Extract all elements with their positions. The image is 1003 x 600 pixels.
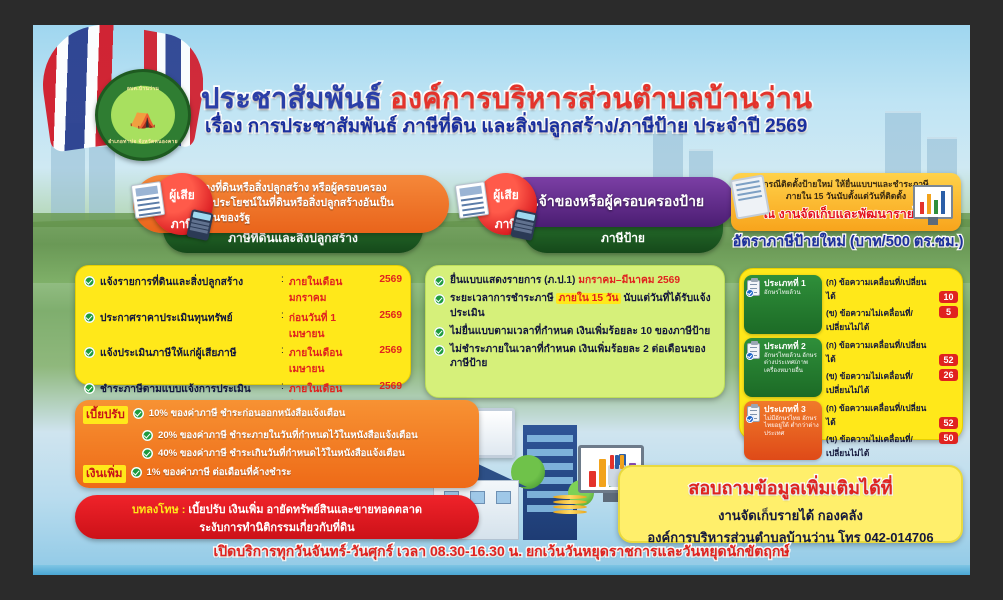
clipboard-icon xyxy=(747,343,760,359)
sign-rule-text: ยื่นแบบแสดงรายการ (ภ.ป.1) มกราคม–มีนาคม … xyxy=(450,274,680,288)
sign-taxpayer-desc: เจ้าของหรือผู้ครอบครองป้าย xyxy=(534,191,704,213)
sign-rate-values: 5250 xyxy=(939,401,958,460)
sign-rule-highlight: มกราคม–มีนาคม 2569 xyxy=(578,275,680,286)
land-schedule-separator: : xyxy=(281,310,284,321)
sign-rule-text: ระยะเวลาการชำระภาษี ภายใน 15 วัน นับแต่ว… xyxy=(450,292,716,321)
land-schedule-label: แจ้งรายการที่ดินและสิ่งปลูกสร้าง xyxy=(100,274,276,290)
sign-rule-row: ระยะเวลาการชำระภาษี ภายใน 15 วัน นับแต่ว… xyxy=(434,292,716,321)
clipboard-icon xyxy=(747,406,760,422)
service-hours-footer: เปิดบริการทุกวันจันทร์-วันศุกร์ เวลา 08.… xyxy=(33,541,970,563)
sign-taxpayer-banner: เจ้าของหรือผู้ครอบครองป้าย xyxy=(503,177,735,227)
clipboard-icon xyxy=(747,280,760,296)
monitor-stand xyxy=(603,493,619,502)
sign-rule-text: ไม่ยื่นแบบตามเวลาที่กำหนด เงินเพิ่มร้อยล… xyxy=(450,325,710,339)
land-schedule-value: ก่อนวันที่ 1 เมษายน xyxy=(289,310,374,342)
penalty-row: 40% ของค่าภาษี ชำระเกินวันที่กำหนดไว้ในห… xyxy=(83,446,471,461)
penalty-surcharge-tag: เงินเพิ่ม xyxy=(83,465,126,483)
penalty-panel: เบี้ยปรับ10% ของค่าภาษี ชำระก่อนออกหนังส… xyxy=(75,400,479,488)
sign-rate-item-label: (ข) ข้อความไม่เคลื่อนที่/เปลี่ยนไม่ได้ xyxy=(826,306,935,334)
sign-rate-category: ประเภทที่ 1อักษรไทยล้วน xyxy=(744,275,822,334)
penalty-text: 10% ของค่าภาษี ชำระก่อนออกหนังสือแจ้งเตื… xyxy=(149,406,346,421)
land-schedule-value: ภายในเดือน มกราคม xyxy=(289,274,374,306)
check-icon xyxy=(131,467,142,478)
sign-rate-category-row: ประเภทที่ 2อักษรไทยล้วน อักษรต่างประเทศ/… xyxy=(744,338,958,397)
sign-rate-badge: 5 xyxy=(939,306,958,318)
check-icon xyxy=(84,276,95,287)
land-schedule-row: ประกาศราคาประเมินทุนทรัพย์:ก่อนวันที่ 1 … xyxy=(84,310,402,342)
document-icon xyxy=(455,181,489,219)
sign-rate-category-title: ประเภทที่ 1 xyxy=(764,279,819,289)
sign-rates-rows: ประเภทที่ 1อักษรไทยล้วน(ก) ข้อความเคลื่อ… xyxy=(744,275,958,460)
penalty-row: 20% ของค่าภาษี ชำระภายในวันที่กำหนดไว้ใน… xyxy=(83,428,471,443)
land-schedule-year: 2569 xyxy=(379,310,402,321)
sign-rate-category-title: ประเภทที่ 2 xyxy=(764,342,819,352)
penalty-rows: เบี้ยปรับ10% ของค่าภาษี ชำระก่อนออกหนังส… xyxy=(83,406,471,483)
sign-rate-category-row: ประเภทที่ 3ไม่มีอักษรไทย อักษรไทยอยู่ใต้… xyxy=(744,401,958,460)
land-schedule-separator: : xyxy=(281,274,284,285)
sign-rate-title: อัตราภาษีป้ายใหม่ (บาท/500 ตร.ซม.) xyxy=(723,230,970,253)
land-schedule-label: แจ้งประเมินภาษีให้แก่ผู้เสียภาษี xyxy=(100,345,276,361)
punishment-line2: ระงับการทำนิติกรรมเกี่ยวกับที่ดิน xyxy=(85,518,469,536)
sign-rate-item-label: (ก) ข้อความเคลื่อนที่/เปลี่ยนได้ xyxy=(826,338,935,366)
land-schedule-year: 2569 xyxy=(379,274,402,285)
sign-rate-category-subtitle: ไม่มีอักษรไทย อักษรไทยอยู่ใต้ ต่ำกว่าต่า… xyxy=(764,415,819,438)
penalty-row: เงินเพิ่ม1% ของค่าภาษี ต่อเดือนที่ค้างชำ… xyxy=(83,465,471,483)
contact-office: งานจัดเก็บรายได้ กองคลัง xyxy=(620,505,961,526)
sign-rate-category-subtitle: อักษรไทยล้วน อักษรต่างประเทศ/ภาพ เครื่อง… xyxy=(764,352,819,375)
sign-rate-item-label: (ก) ข้อความเคลื่อนที่/เปลี่ยนได้ xyxy=(826,275,935,303)
sign-rate-items: (ก) ข้อความเคลื่อนที่/เปลี่ยนได้(ข) ข้อค… xyxy=(826,275,935,334)
emblem-bottom-text: อำเภอท่าบ่อ จังหวัดหนองคาย xyxy=(98,138,188,146)
monitor-chart-icon xyxy=(913,185,953,219)
punishment-line1: บทลงโทษ :เบี้ยปรับ เงินเพิ่ม อายัดทรัพย์… xyxy=(85,500,469,518)
check-icon xyxy=(434,345,445,356)
contact-heading: สอบถามข้อมูลเพิ่มเติมได้ที่ xyxy=(620,473,961,502)
sign-rate-category-subtitle: อักษรไทยล้วน xyxy=(764,289,819,297)
sign-tax-band-label: ภาษีป้าย xyxy=(601,229,645,248)
penalty-text: 40% ของค่าภาษี ชำระเกินวันที่กำหนดไว้ในห… xyxy=(158,446,405,461)
sign-rate-badge: 26 xyxy=(939,369,958,381)
check-icon xyxy=(133,408,144,419)
check-icon xyxy=(84,347,95,358)
land-schedule-label: ชำระภาษีตามแบบแจ้งการประเมิน xyxy=(100,381,276,397)
footer-strip xyxy=(33,565,970,575)
punishment-bar: บทลงโทษ :เบี้ยปรับ เงินเพิ่ม อายัดทรัพย์… xyxy=(75,495,479,539)
land-schedule-year: 2569 xyxy=(379,345,402,356)
punishment-tag: บทลงโทษ : xyxy=(132,504,185,516)
page-subtitle: เรื่อง การประชาสัมพันธ์ ภาษีที่ดิน และสิ… xyxy=(205,111,925,141)
sign-rate-badge: 52 xyxy=(939,354,958,366)
land-schedule-separator: : xyxy=(281,381,284,392)
sign-rates-panel: ประเภทที่ 1อักษรไทยล้วน(ก) ข้อความเคลื่อ… xyxy=(739,268,963,440)
poster-canvas: อบต.บ้านว่าน ⛺ อำเภอท่าบ่อ จังหวัดหนองคา… xyxy=(33,25,970,575)
land-schedule-row: แจ้งรายการที่ดินและสิ่งปลูกสร้าง:ภายในเด… xyxy=(84,274,402,306)
sign-rate-category-row: ประเภทที่ 1อักษรไทยล้วน(ก) ข้อความเคลื่อ… xyxy=(744,275,958,334)
sign-rate-badge: 50 xyxy=(939,432,958,444)
land-schedule-row: แจ้งประเมินภาษีให้แก่ผู้เสียภาษี:ภายในเด… xyxy=(84,345,402,377)
check-icon xyxy=(434,276,445,287)
sign-rate-item-label: (ข) ข้อความไม่เคลื่อนที่/เปลี่ยนไม่ได้ xyxy=(826,432,935,460)
sign-rate-badge: 10 xyxy=(939,291,958,303)
document-icon xyxy=(131,181,165,219)
coin-stack-icon xyxy=(553,495,587,511)
check-icon xyxy=(142,448,153,459)
sign-rate-items: (ก) ข้อความเคลื่อนที่/เปลี่ยนได้(ข) ข้อค… xyxy=(826,401,935,460)
check-icon xyxy=(84,383,95,394)
emblem-temple-icon: ⛺ xyxy=(98,106,188,128)
land-schedule-label: ประกาศราคาประเมินทุนทรัพย์ xyxy=(100,310,276,326)
land-taxpayer-desc-line1: เจ้าของที่ดินหรือสิ่งปลูกสร้าง หรือผู้คร… xyxy=(181,181,439,196)
sign-rate-category: ประเภทที่ 3ไม่มีอักษรไทย อักษรไทยอยู่ใต้… xyxy=(744,401,822,460)
land-schedule-value: ภายในเดือน เมษายน xyxy=(289,345,374,377)
check-icon xyxy=(434,327,445,338)
sign-rule-row: ไม่ชำระภายในเวลาที่กำหนด เงินเพิ่มร้อยละ… xyxy=(434,343,716,372)
sign-rate-items: (ก) ข้อความเคลื่อนที่/เปลี่ยนได้(ข) ข้อค… xyxy=(826,338,935,397)
sign-rate-values: 105 xyxy=(939,275,958,334)
sign-rate-values: 5226 xyxy=(939,338,958,397)
sign-rules-rows: ยื่นแบบแสดงรายการ (ภ.ป.1) มกราคม–มีนาคม … xyxy=(434,274,716,372)
land-tax-schedule-panel: แจ้งรายการที่ดินและสิ่งปลูกสร้าง:ภายในเด… xyxy=(75,265,411,385)
sign-rule-highlight: ภายใน 15 วัน xyxy=(556,293,620,304)
poster-header: อบต.บ้านว่าน ⛺ อำเภอท่าบ่อ จังหวัดหนองคา… xyxy=(33,25,970,145)
check-icon xyxy=(142,430,153,441)
sign-rate-item-label: (ข) ข้อความไม่เคลื่อนที่/เปลี่ยนไม่ได้ xyxy=(826,369,935,397)
sign-rate-item-label: (ก) ข้อความเคลื่อนที่/เปลี่ยนได้ xyxy=(826,401,935,429)
punishment-text1: เบี้ยปรับ เงินเพิ่ม อายัดทรัพย์สินและขาย… xyxy=(188,504,422,516)
land-schedule-year: 2569 xyxy=(379,381,402,392)
land-taxpayer-desc-line2: หรือทำประโยชน์ในที่ดินหรือสิ่งปลูกสร้างอ… xyxy=(181,196,439,211)
check-icon xyxy=(434,294,445,305)
sign-rule-row: ไม่ยื่นแบบตามเวลาที่กำหนด เงินเพิ่มร้อยล… xyxy=(434,325,716,339)
sign-rule-text: ไม่ชำระภายในเวลาที่กำหนด เงินเพิ่มร้อยละ… xyxy=(450,343,716,372)
contact-box: สอบถามข้อมูลเพิ่มเติมได้ที่ งานจัดเก็บรา… xyxy=(618,465,963,543)
sign-rate-category: ประเภทที่ 2อักษรไทยล้วน อักษรต่างประเทศ/… xyxy=(744,338,822,397)
sign-rate-category-title: ประเภทที่ 3 xyxy=(764,405,819,415)
sign-rate-badge: 52 xyxy=(939,417,958,429)
sign-tax-band: ภาษีป้าย xyxy=(523,223,723,253)
penalty-fine-tag: เบี้ยปรับ xyxy=(83,406,128,424)
land-taxpayer-desc-line3: ทรัพย์สินของรัฐ xyxy=(181,211,439,226)
emblem-top-text: อบต.บ้านว่าน xyxy=(98,85,188,93)
penalty-text: 1% ของค่าภาษี ต่อเดือนที่ค้างชำระ xyxy=(147,465,292,480)
organization-emblem: อบต.บ้านว่าน ⛺ อำเภอท่าบ่อ จังหวัดหนองคา… xyxy=(95,69,191,161)
check-icon xyxy=(84,312,95,323)
penalty-row: เบี้ยปรับ10% ของค่าภาษี ชำระก่อนออกหนังส… xyxy=(83,406,471,424)
sign-rule-row: ยื่นแบบแสดงรายการ (ภ.ป.1) มกราคม–มีนาคม … xyxy=(434,274,716,288)
sign-tax-rules-panel: ยื่นแบบแสดงรายการ (ภ.ป.1) มกราคม–มีนาคม … xyxy=(425,265,725,398)
land-schedule-separator: : xyxy=(281,345,284,356)
tablet-icon xyxy=(730,174,770,219)
penalty-text: 20% ของค่าภาษี ชำระภายในวันที่กำหนดไว้ใน… xyxy=(158,428,418,443)
